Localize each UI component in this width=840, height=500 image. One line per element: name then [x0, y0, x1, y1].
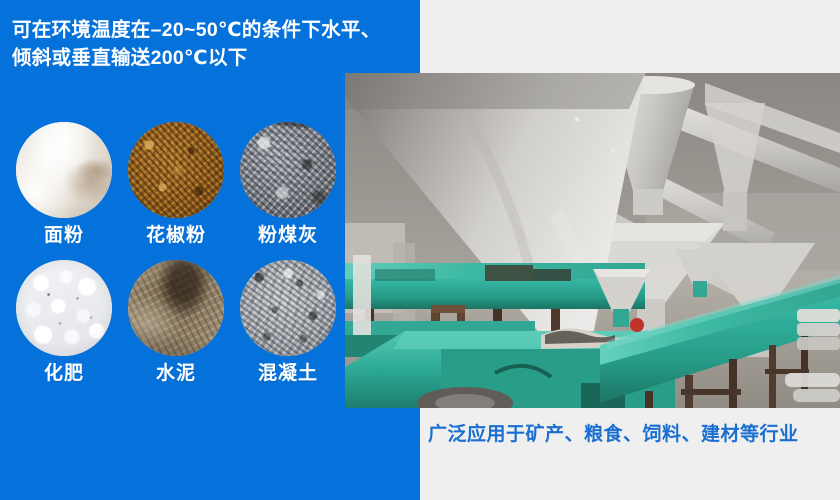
- fertilizer-swatch-icon: [16, 260, 112, 356]
- material-item-flour[interactable]: 面粉: [8, 122, 120, 247]
- material-label: 混凝土: [258, 363, 318, 385]
- material-item-fly-ash[interactable]: 粉煤灰: [232, 122, 344, 247]
- material-item-pepper-powder[interactable]: 花椒粉: [120, 122, 232, 247]
- pepper-powder-swatch-icon: [128, 122, 224, 218]
- material-item-concrete[interactable]: 混凝土: [232, 260, 344, 385]
- material-label: 粉煤灰: [258, 225, 318, 247]
- material-label: 化肥: [44, 363, 84, 385]
- promo-banner: 可在环境温度在–20~50℃的条件下水平、 倾斜或垂直输送200℃以下 面粉 花…: [0, 0, 840, 500]
- fly-ash-swatch-icon: [240, 122, 336, 218]
- material-item-fertilizer[interactable]: 化肥: [8, 260, 120, 385]
- material-label: 面粉: [44, 225, 84, 247]
- material-label: 水泥: [156, 363, 196, 385]
- material-row: 面粉 花椒粉 粉煤灰: [8, 122, 348, 247]
- application-caption: 广泛应用于矿产、粮食、饲料、建材等行业: [428, 421, 840, 449]
- factory-photo-illustration: [345, 73, 840, 408]
- cement-swatch-icon: [128, 260, 224, 356]
- material-item-cement[interactable]: 水泥: [120, 260, 232, 385]
- flour-swatch-icon: [16, 122, 112, 218]
- material-label: 花椒粉: [146, 225, 206, 247]
- concrete-swatch-icon: [240, 260, 336, 356]
- factory-photo: [345, 73, 840, 408]
- material-grid: 面粉 花椒粉 粉煤灰 化肥: [8, 122, 348, 398]
- material-row: 化肥 水泥 混凝土: [8, 260, 348, 385]
- headline-text: 可在环境温度在–20~50℃的条件下水平、 倾斜或垂直输送200℃以下: [12, 16, 412, 72]
